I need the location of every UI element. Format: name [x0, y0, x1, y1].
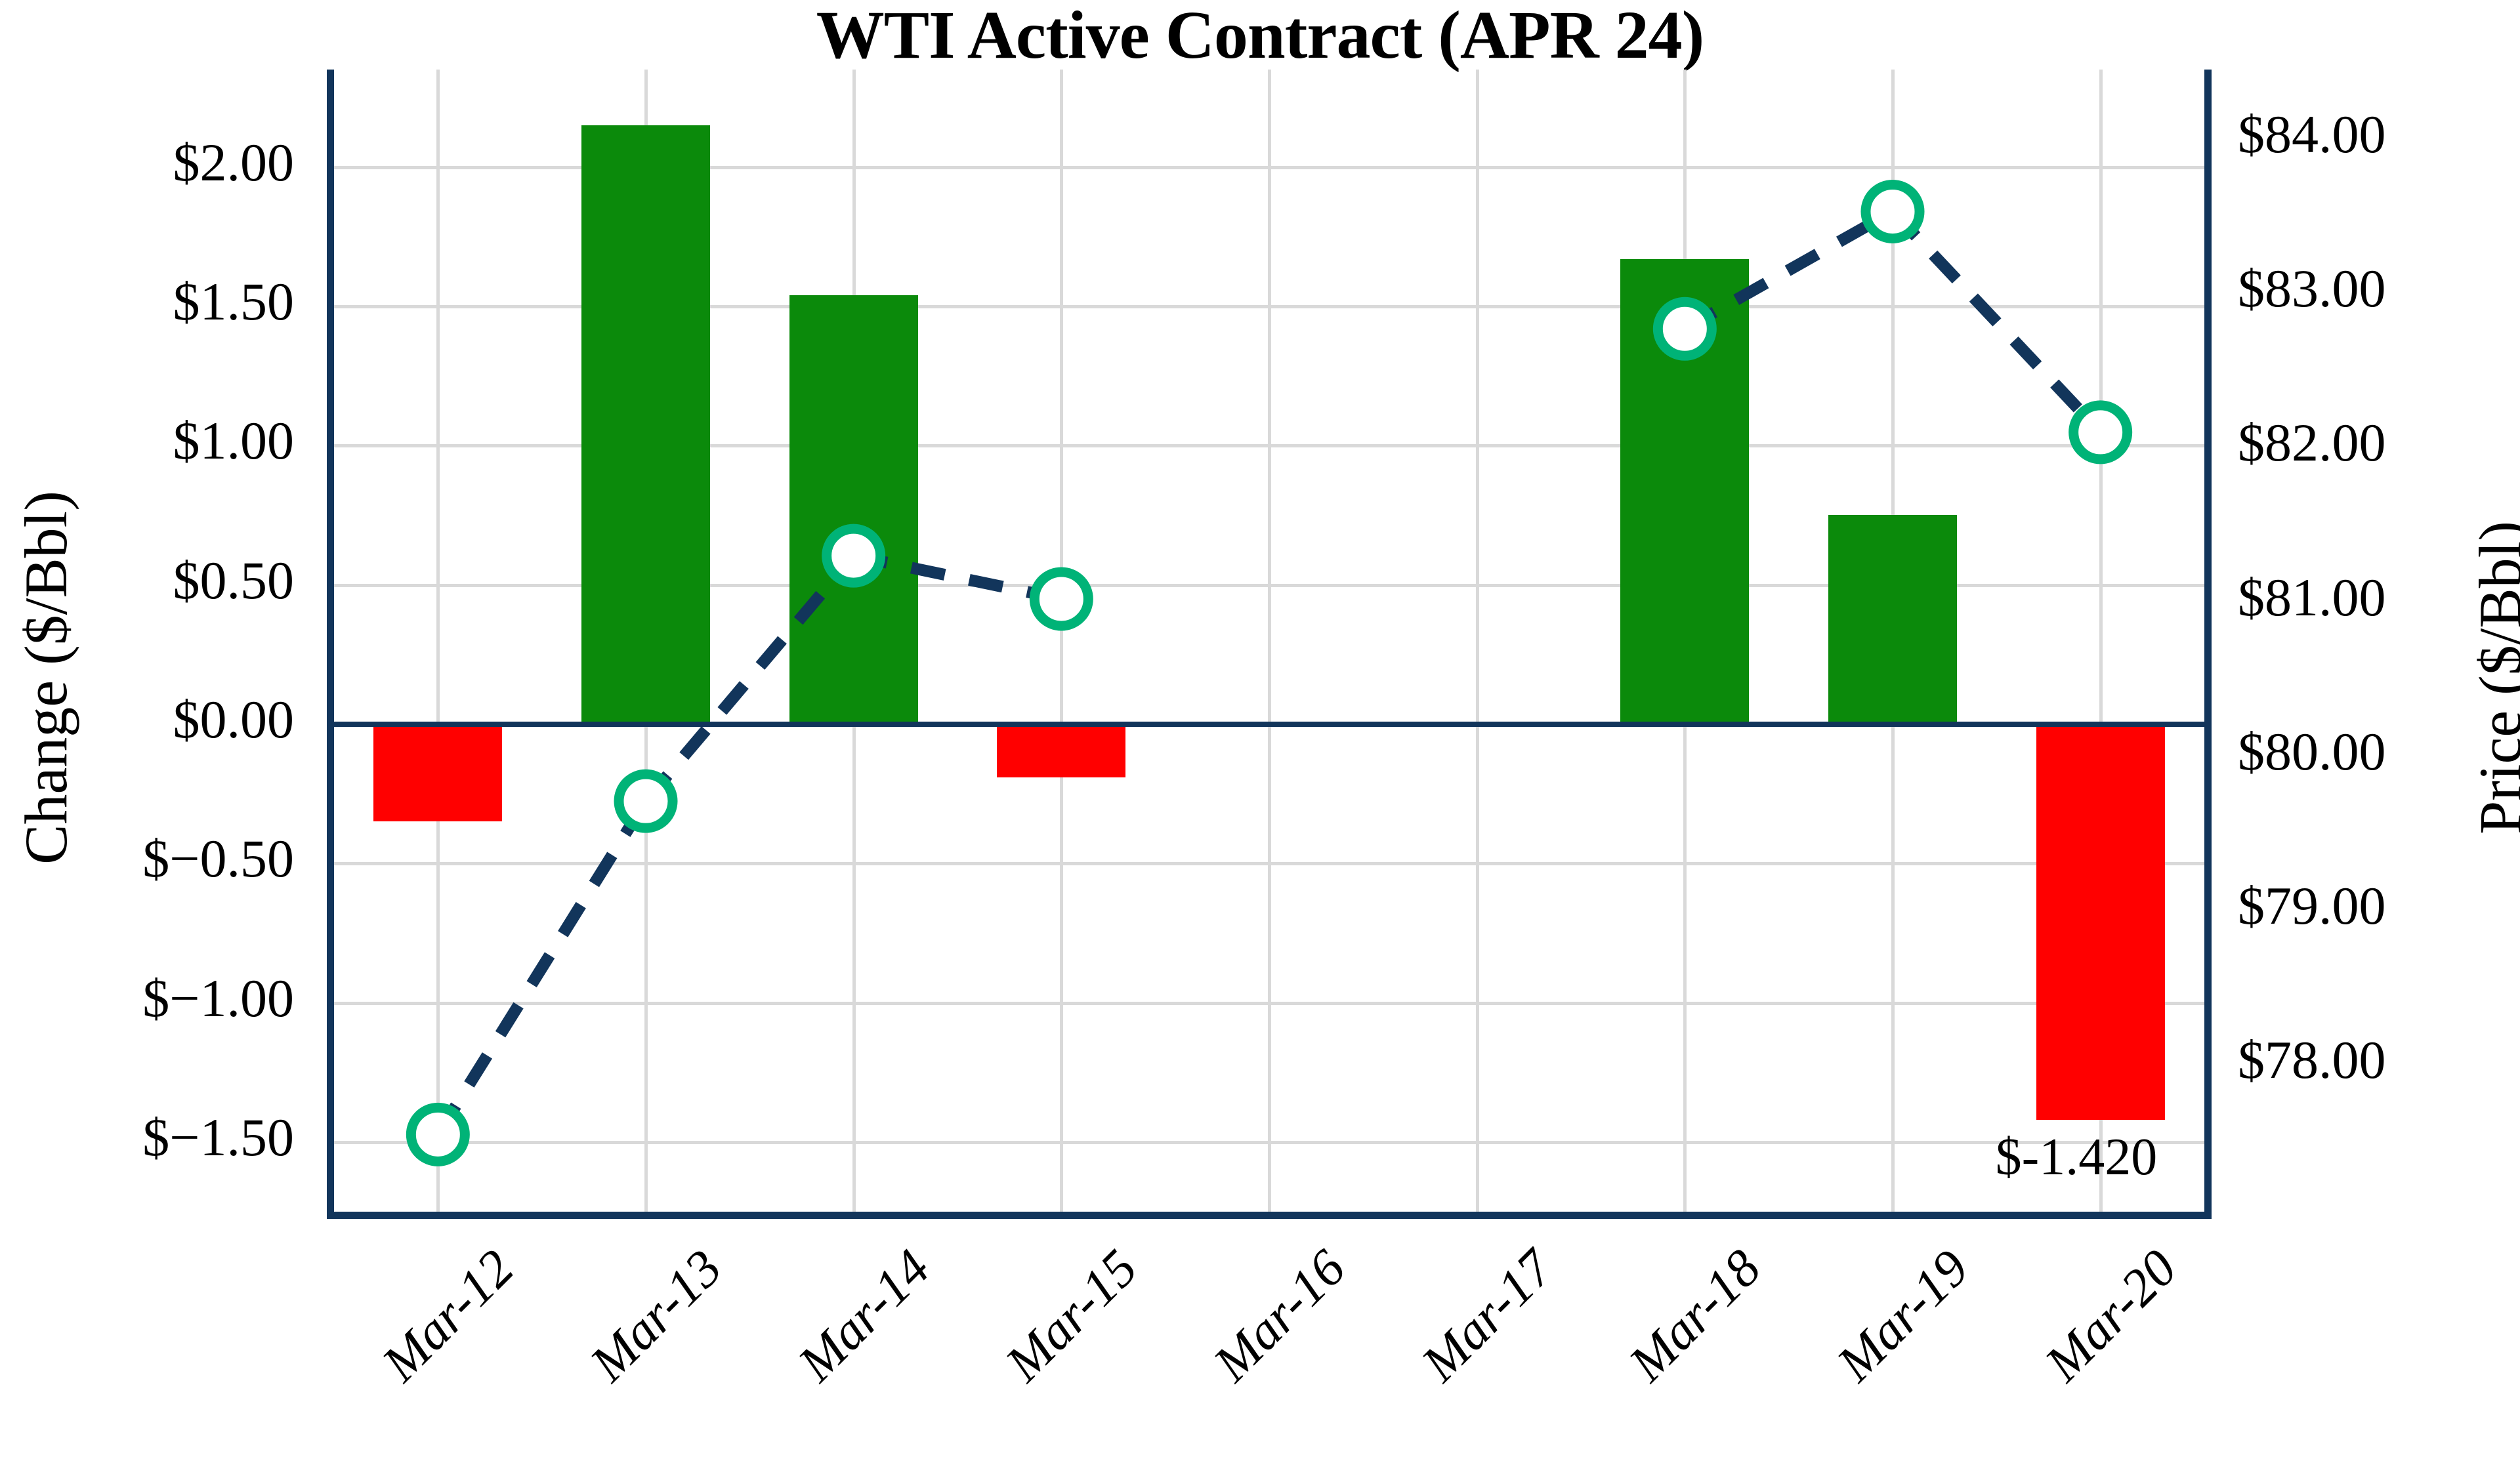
axis-spine-bottom — [327, 1212, 2212, 1219]
x-tick-label-Mar-16: Mar-16 — [1167, 1239, 1358, 1429]
bar-Mar-19[interactable] — [1828, 515, 1957, 724]
y-tick-label-right: $84.00 — [2238, 104, 2520, 165]
bar-Mar-12[interactable] — [373, 724, 502, 822]
bar-Mar-18[interactable] — [1620, 259, 1749, 724]
x-tick-label-Mar-20: Mar-20 — [1998, 1239, 2189, 1429]
axis-spine-left — [327, 70, 334, 1219]
y-tick-label-right: $78.00 — [2238, 1029, 2520, 1091]
axis-spine-right — [2204, 70, 2212, 1219]
y-tick-label-left: $2.00 — [18, 132, 294, 194]
gridline-vertical — [1476, 70, 1479, 1212]
bar-data-label: $-1.420 — [1996, 1128, 2158, 1187]
plot-area: Mar-12: 77.55Mar-13: 79.71Mar-14: 81.3Ma… — [327, 70, 2212, 1219]
chart-canvas: WTI Active Contract (APR 24) $2.00$1.50$… — [0, 0, 2520, 1480]
price-line-segment — [1893, 211, 2101, 432]
y-tick-label-left: $−1.50 — [18, 1107, 294, 1168]
x-tick-label-Mar-19: Mar-19 — [1790, 1239, 1981, 1429]
x-tick-label-Mar-18: Mar-18 — [1582, 1239, 1773, 1429]
y-tick-label-right: $83.00 — [2238, 258, 2520, 319]
bar-Mar-15[interactable] — [997, 724, 1125, 777]
x-tick-label-Mar-17: Mar-17 — [1374, 1239, 1565, 1429]
zero-baseline — [327, 722, 2212, 727]
bar-Mar-20[interactable] — [2036, 724, 2165, 1120]
price-line-segment — [438, 801, 646, 1134]
y-axis-right-title: Price ($/Bbl) — [2466, 350, 2520, 1006]
gridline-vertical — [1060, 70, 1063, 1212]
gridline-vertical — [436, 70, 440, 1212]
y-axis-left-title: Change ($/Bbl) — [11, 350, 81, 1006]
bar-Mar-13[interactable] — [581, 125, 710, 724]
bar-Mar-14[interactable] — [789, 295, 918, 724]
gridline-vertical — [1268, 70, 1271, 1212]
x-tick-label-Mar-14: Mar-14 — [751, 1239, 942, 1429]
x-tick-label-Mar-13: Mar-13 — [543, 1239, 734, 1429]
x-tick-label-Mar-15: Mar-15 — [959, 1239, 1150, 1429]
x-tick-label-Mar-12: Mar-12 — [335, 1239, 526, 1429]
y-tick-label-left: $1.50 — [18, 271, 294, 333]
